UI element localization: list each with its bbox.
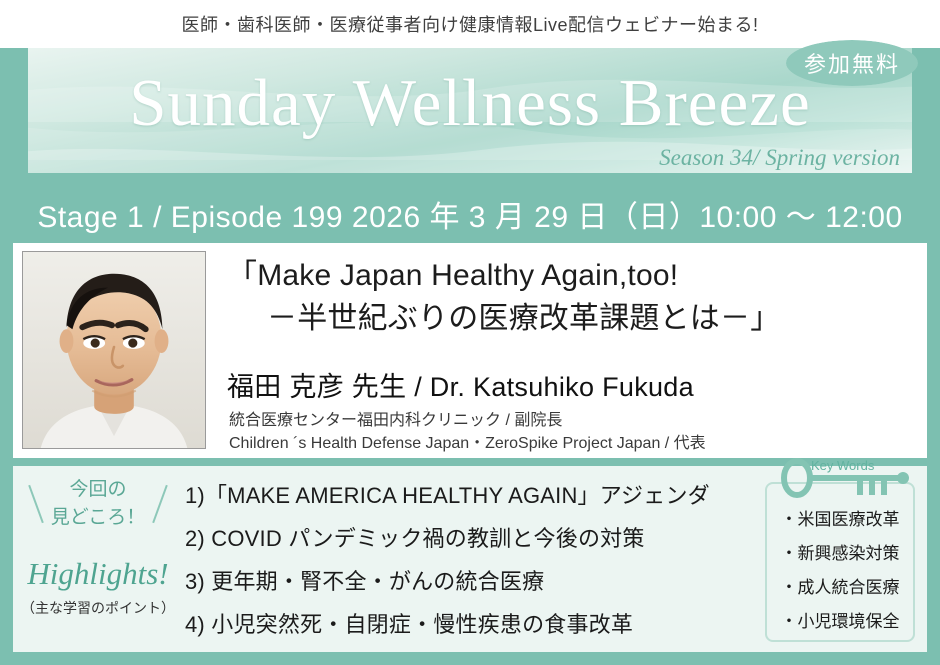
season-label: Season 34/ Spring version — [659, 145, 900, 171]
agenda-item: 2) COVID パンデミック禍の教訓と今後の対策 — [185, 517, 755, 560]
speaker-affiliation-secondary: Children ´s Health Defense Japan・ZeroSpi… — [229, 429, 706, 453]
free-admission-badge: 参加無料 — [786, 40, 918, 86]
header-band: Sunday Wellness Breeze Season 34/ Spring… — [28, 48, 912, 173]
keyword-item: ・成人統合医療 — [767, 570, 913, 604]
bottom-panel: 今回の 見どころ！ Highlights! （主な学習のポイント） 1)「MAK… — [13, 466, 927, 652]
lecture-title-line2: －半世紀ぶりの医療改革課題とは－」 — [227, 298, 917, 341]
webinar-poster: 医師・歯科医師・医療従事者向け健康情報Live配信ウェビナー始まる! Sunda… — [0, 0, 940, 665]
agenda-item: 1)「MAKE AMERICA HEALTHY AGAIN」アジェンダ — [185, 474, 755, 517]
lecture-title: 「Make Japan Healthy Again,too! －半世紀ぶりの医療… — [227, 255, 917, 340]
keyword-item: ・新興感染対策 — [767, 536, 913, 570]
keywords-label: Key Words — [811, 458, 874, 473]
highlights-subtitle: （主な学習のポイント） — [13, 598, 183, 618]
speaker-panel: 「Make Japan Healthy Again,too! －半世紀ぶりの医療… — [13, 243, 927, 458]
tagline-text: 医師・歯科医師・医療従事者向け健康情報Live配信ウェビナー始まる! — [181, 11, 758, 37]
free-admission-label: 参加無料 — [804, 47, 900, 79]
schedule-bar: Stage 1 / Episode 199 2026 年 3 月 29 日（日）… — [0, 186, 940, 242]
highlights-heading-jp: 今回の 見どころ！ — [13, 476, 183, 531]
speaker-affiliation-primary: 統合医療センター福田内科クリニック / 副院長 — [229, 406, 562, 430]
keyword-item: ・小児環境保全 — [767, 604, 913, 638]
lecture-title-line1: 「Make Japan Healthy Again,too! — [227, 259, 678, 292]
schedule-text: Stage 1 / Episode 199 2026 年 3 月 29 日（日）… — [37, 192, 902, 236]
highlights-heading-en: Highlights! — [13, 556, 183, 592]
portrait-image — [23, 252, 205, 448]
highlights-block: 今回の 見どころ！ Highlights! （主な学習のポイント） — [13, 466, 183, 652]
keyword-item: ・米国医療改革 — [767, 502, 913, 536]
keywords-list: ・米国医療改革 ・新興感染対策 ・成人統合医療 ・小児環境保全 — [767, 502, 913, 638]
agenda-item: 4) 小児突然死・自閉症・慢性疾患の食事改革 — [185, 603, 755, 646]
speaker-name: 福田 克彦 先生 / Dr. Katsuhiko Fukuda — [227, 365, 694, 404]
speaker-portrait — [22, 251, 206, 449]
highlights-heading-jp-line2: 見どころ！ — [51, 507, 145, 528]
tagline-strip: 医師・歯科医師・医療従事者向け健康情報Live配信ウェビナー始まる! — [0, 0, 940, 48]
agenda-item: 3) 更年期・腎不全・がんの統合医療 — [185, 560, 755, 603]
keywords-box: Key Words ・米国医療改革 ・新興感染対策 ・成人統合医療 ・小児環境保… — [765, 482, 915, 642]
agenda-list: 1)「MAKE AMERICA HEALTHY AGAIN」アジェンダ 2) C… — [185, 474, 755, 646]
highlights-heading-jp-line1: 今回の — [69, 479, 126, 500]
